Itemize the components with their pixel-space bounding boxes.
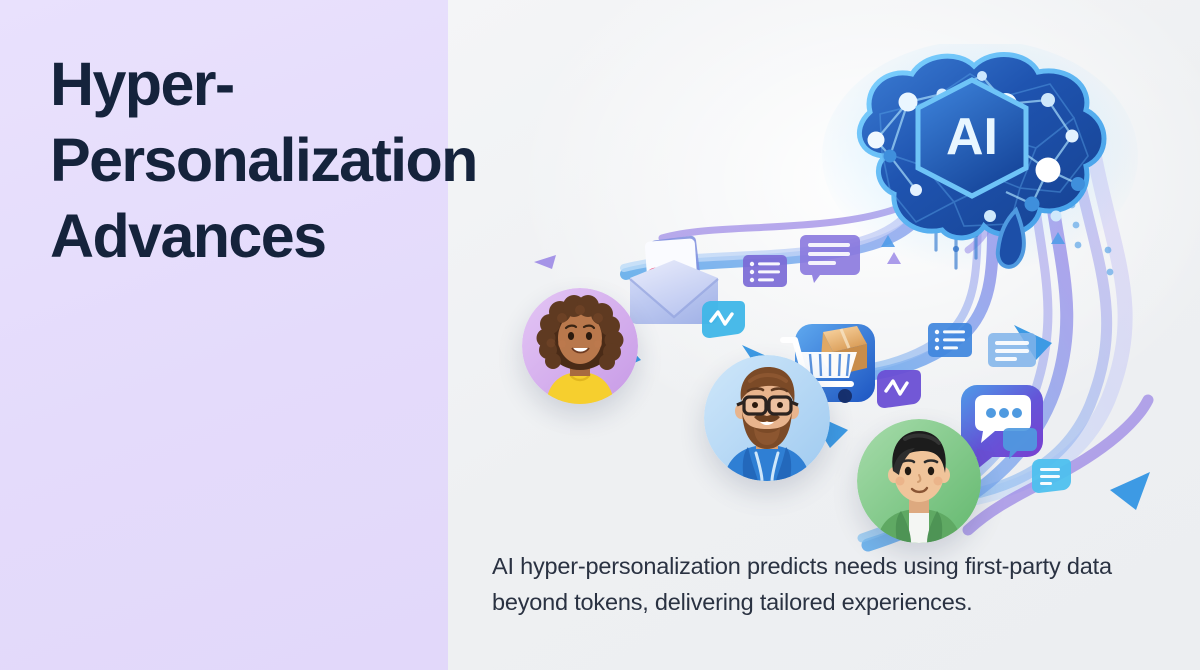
list-card-icon (798, 232, 862, 289)
title-line-3: Advances (50, 198, 670, 274)
list-card-icon (986, 330, 1038, 379)
list-card-icon (926, 320, 974, 367)
signal-chip-icon (1028, 455, 1074, 502)
ai-hexagon-label: AI (946, 108, 998, 166)
signal-chip-icon (698, 297, 748, 346)
avatar (857, 419, 981, 543)
avatar (522, 288, 638, 404)
caption-text: AI hyper-personalization predicts needs … (492, 548, 1132, 620)
ai-hexagon-badge: AI (918, 80, 1026, 196)
page-title: Hyper- Personalization Advances (50, 46, 670, 274)
avatar (704, 355, 830, 481)
signal-chip-icon (872, 366, 924, 417)
ai-brain-icon: AI (820, 44, 1150, 299)
title-line-1: Hyper- (50, 46, 670, 122)
list-card-icon (741, 252, 789, 297)
slide-canvas: Hyper- Personalization Advances (0, 0, 1200, 670)
title-line-2: Personalization (50, 122, 670, 198)
